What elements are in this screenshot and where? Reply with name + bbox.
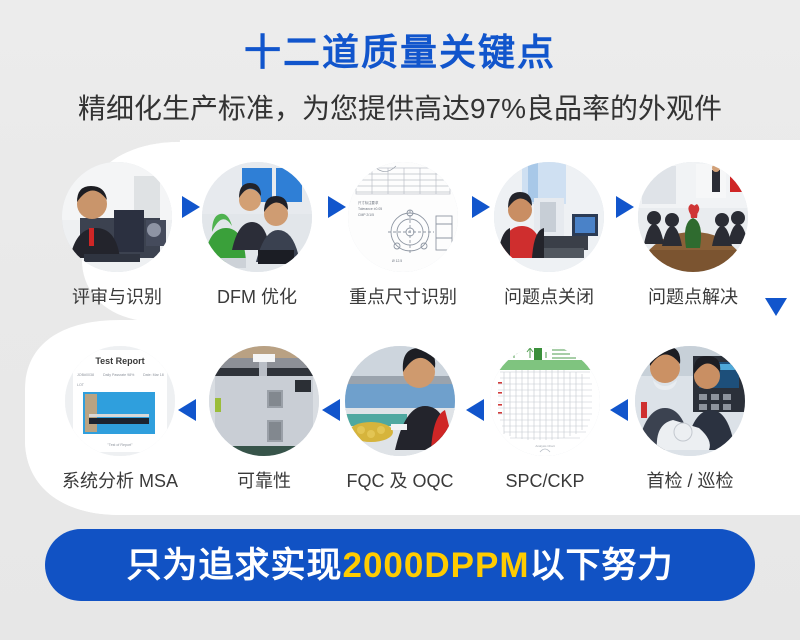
flow-node-3-label: 重点尺寸识别 <box>343 288 463 306</box>
flow-arrow-left-3 <box>466 399 484 421</box>
flow-node-7-label: 可靠性 <box>204 472 324 490</box>
flow-arrow-right-4 <box>616 196 634 218</box>
flow-node-1[interactable]: 评审与识别 <box>57 162 177 306</box>
flow-arrow-down <box>765 298 787 316</box>
flow-node-2-label: DFM 优化 <box>197 288 317 306</box>
flow-node-1-label: 评审与识别 <box>57 288 177 306</box>
svg-text:LOT: LOT <box>77 383 85 387</box>
flow-node-3[interactable]: 尺寸标注要求 Tolerance ±0.05 CMP 2/1/5 Ø 12.5 … <box>343 162 463 306</box>
flow-node-5[interactable]: 问题点解决 <box>633 162 753 306</box>
flow-node-6-label: 系统分析 MSA <box>60 472 180 490</box>
control-chart-photo: Analysis Chart <box>490 346 600 456</box>
flow-arrow-right-3 <box>472 196 490 218</box>
engineer-at-desk-photo <box>62 162 172 272</box>
flow-node-6[interactable]: Test Report JOB#0038 Daily Passrate 98% … <box>60 346 180 490</box>
header: 十二道质量关键点 精细化生产标准，为您提供高达97%良品率的外观件 <box>0 0 800 123</box>
flow-arrow-left-2 <box>322 399 340 421</box>
banner-highlight: 2000DPPM <box>343 546 530 585</box>
first-article-inspection-photo <box>635 346 745 456</box>
flow-node-2[interactable]: DFM 优化 <box>197 162 317 306</box>
flow-node-4-label: 问题点关闭 <box>489 288 609 306</box>
team-reviewing-design-photo <box>202 162 312 272</box>
flow-node-9[interactable]: Analysis Chart SPC/CKP <box>485 346 605 490</box>
banner-text-before: 只为追求实现 <box>126 546 342 585</box>
flow-arrow-left-1 <box>178 399 196 421</box>
svg-text:Tolerance ±0.05: Tolerance ±0.05 <box>358 207 382 211</box>
poster-canvas: 十二道质量关键点 精细化生产标准，为您提供高达97%良品率的外观件 <box>0 0 800 640</box>
svg-text:CMP 2/1/5: CMP 2/1/5 <box>358 213 374 217</box>
test-report-document-photo: Test Report JOB#0038 Daily Passrate 98% … <box>65 346 175 456</box>
flow-arrow-right-1 <box>182 196 200 218</box>
flow-node-10-label: 首检 / 巡检 <box>630 472 750 490</box>
svg-text:Daily Passrate 98%: Daily Passrate 98% <box>103 373 135 377</box>
measuring-machine-operator-photo <box>494 162 604 272</box>
flow-arrow-right-2 <box>328 196 346 218</box>
flow-node-10[interactable]: 首检 / 巡检 <box>630 346 750 490</box>
inspector-sorting-parts-photo <box>345 346 455 456</box>
svg-text:"Test of Report": "Test of Report" <box>108 443 134 447</box>
flow-node-5-label: 问题点解决 <box>633 288 753 306</box>
page-title: 十二道质量关键点 <box>0 0 800 71</box>
engineering-drawing-photo: 尺寸标注要求 Tolerance ±0.05 CMP 2/1/5 Ø 12.5 <box>348 162 458 272</box>
page-subtitle: 精细化生产标准，为您提供高达97%良品率的外观件 <box>0 71 800 123</box>
svg-text:Ø 12.5: Ø 12.5 <box>392 259 402 263</box>
bottom-banner[interactable]: 只为追求实现2000DPPM以下努力 <box>45 529 755 601</box>
svg-text:Test Report: Test Report <box>95 356 144 366</box>
bottom-banner-text: 只为追求实现2000DPPM以下努力 <box>126 548 673 583</box>
svg-text:Date: Mar 18: Date: Mar 18 <box>143 373 164 377</box>
meeting-room-photo <box>638 162 748 272</box>
flow-node-8[interactable]: FQC 及 OQC <box>340 346 460 490</box>
flow-node-7[interactable]: 可靠性 <box>204 346 324 490</box>
flow-arrow-left-4 <box>610 399 628 421</box>
environmental-test-chamber-photo <box>209 346 319 456</box>
flow-node-4[interactable]: 问题点关闭 <box>489 162 609 306</box>
flow-node-9-label: SPC/CKP <box>485 472 605 490</box>
svg-text:Analysis Chart: Analysis Chart <box>535 444 555 448</box>
svg-text:JOB#0038: JOB#0038 <box>77 373 94 377</box>
banner-text-after: 以下努力 <box>529 546 673 585</box>
flow-node-8-label: FQC 及 OQC <box>340 472 460 490</box>
svg-text:尺寸标注要求: 尺寸标注要求 <box>358 200 379 205</box>
